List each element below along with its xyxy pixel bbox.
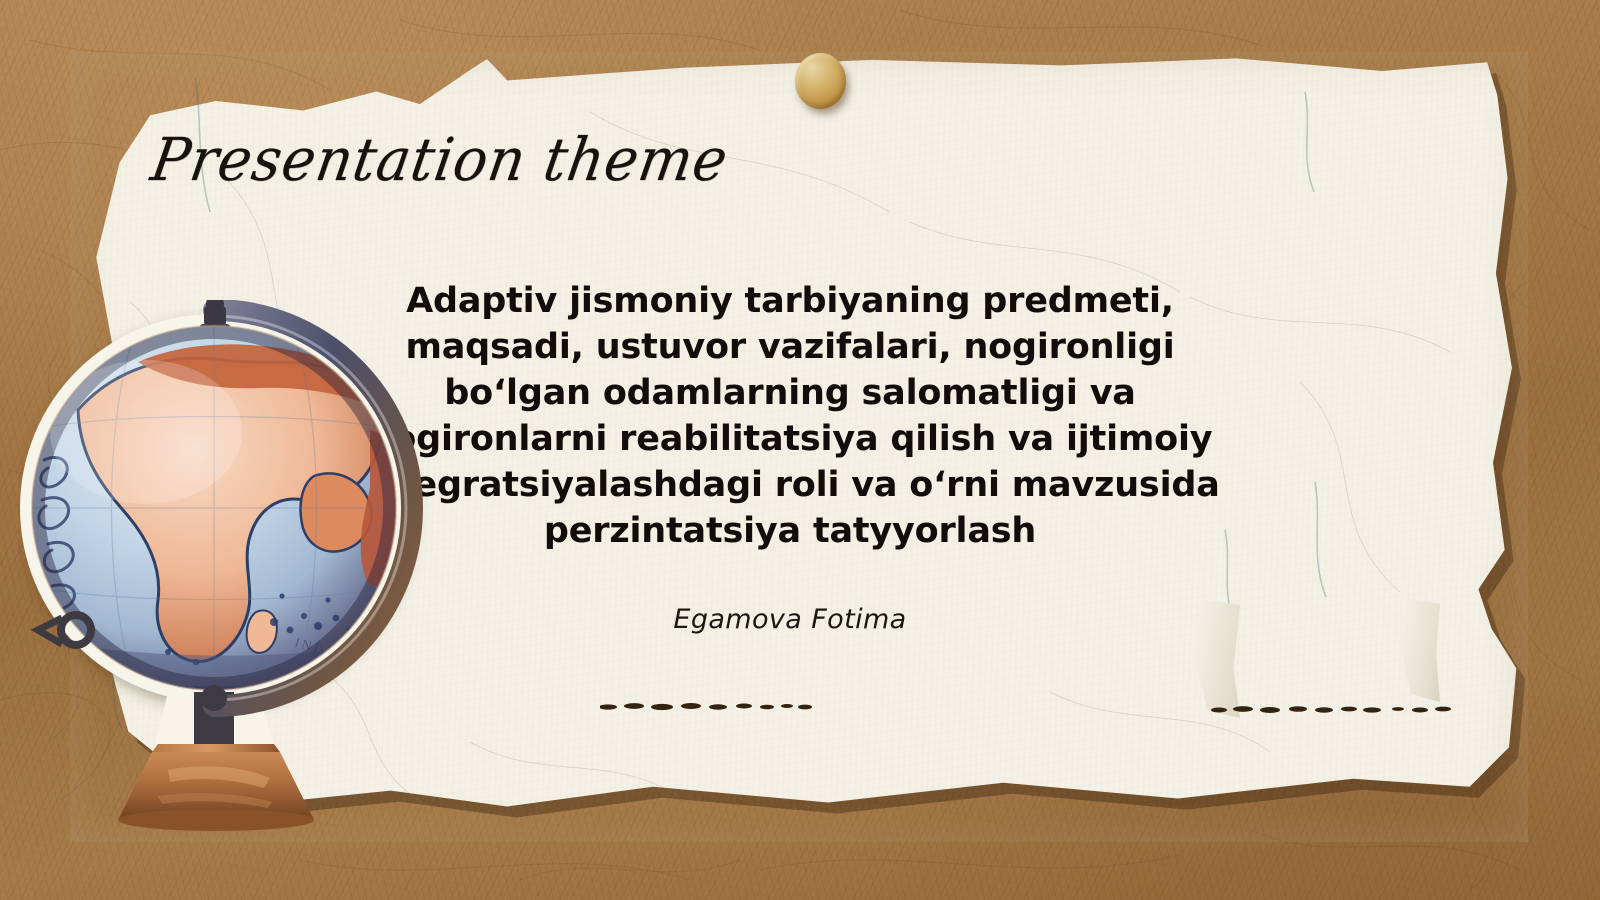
- slide-canvas: Presentation theme Adaptiv jismoniy tarb…: [0, 0, 1600, 900]
- pin-icon[interactable]: [795, 53, 850, 113]
- pin-head: [795, 53, 846, 109]
- dashed-rule-left: [600, 700, 815, 712]
- slide-author: Egamova Fotima: [330, 604, 1250, 635]
- slide-title: Presentation theme: [147, 126, 733, 195]
- dashed-rule-right: [1210, 703, 1455, 715]
- slide-headline: Adaptiv jismoniy tarbiyaning predmeti, m…: [330, 278, 1250, 554]
- globe-illustration: INDIA: [18, 300, 448, 860]
- globe-land-madagascar: [247, 610, 277, 652]
